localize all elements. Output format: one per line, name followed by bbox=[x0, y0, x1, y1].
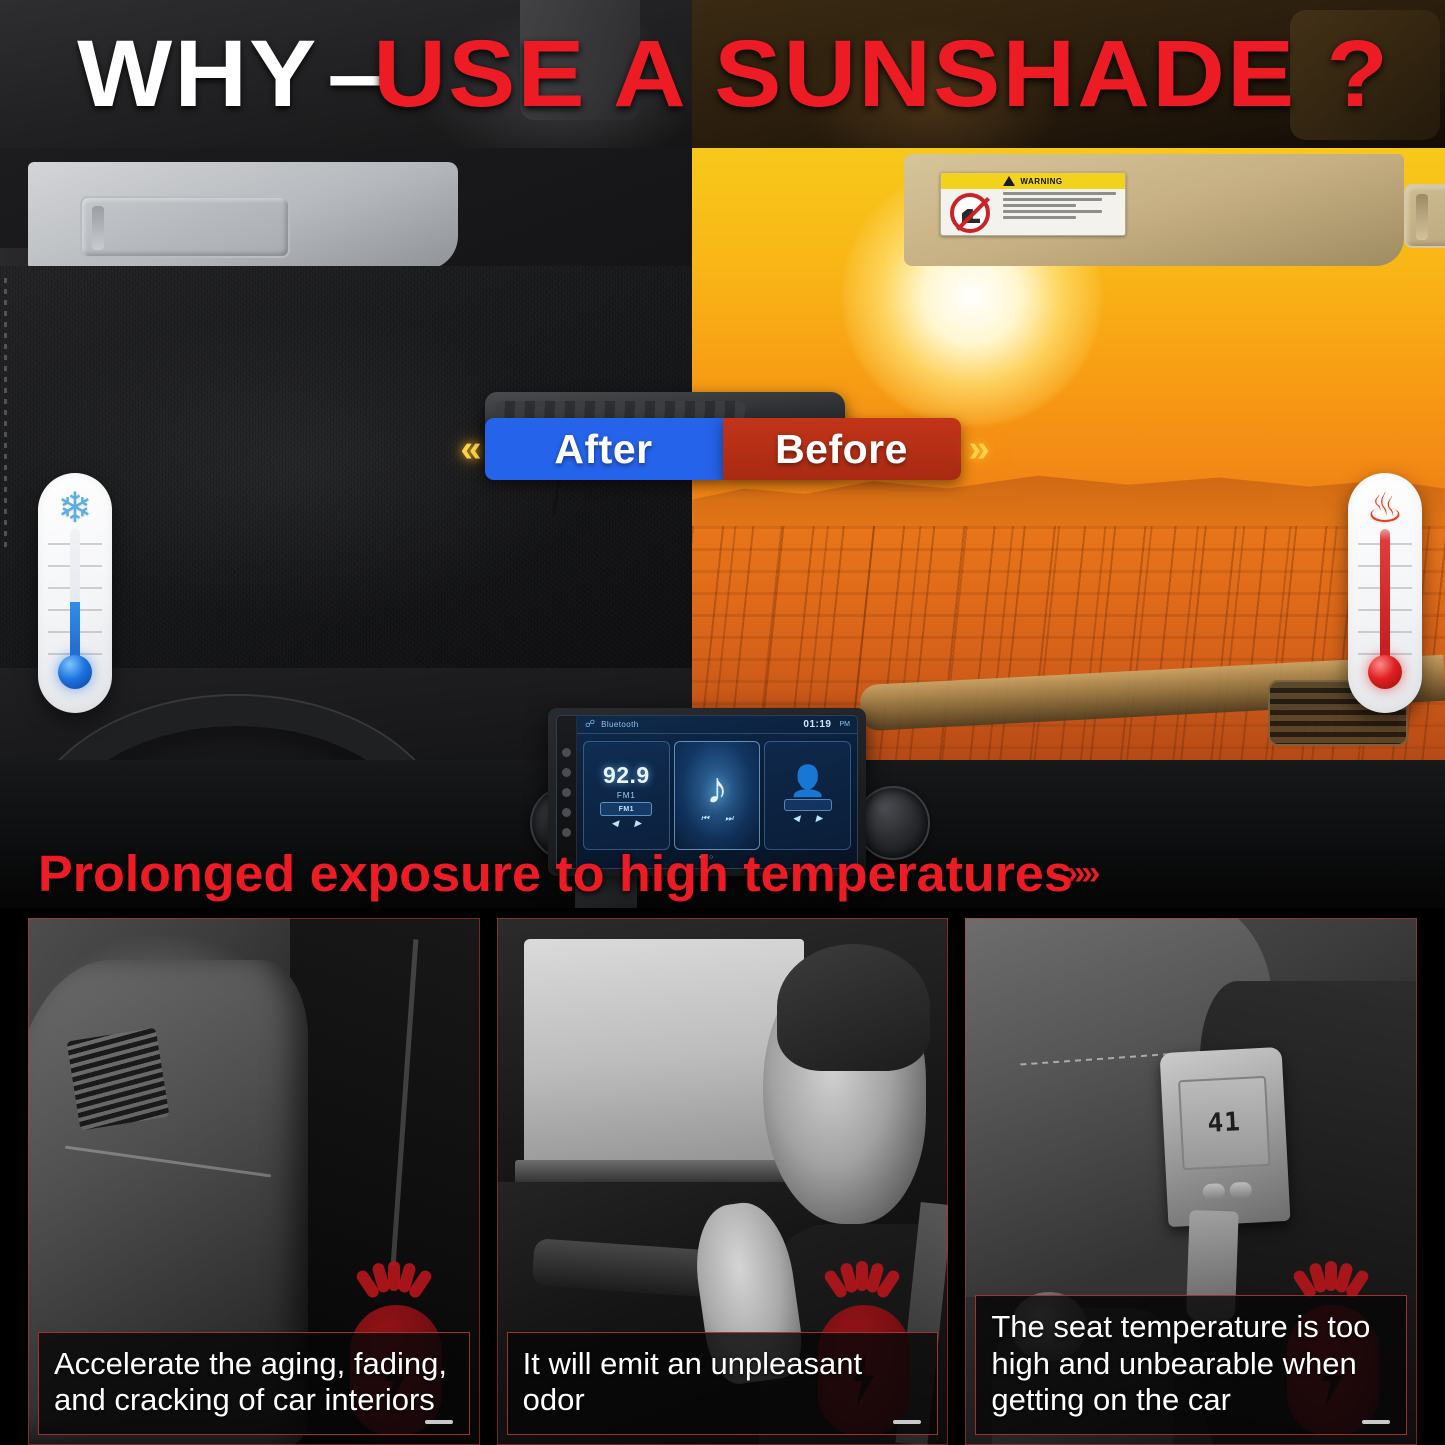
visor-mirror-cover-left bbox=[80, 196, 290, 258]
music-card[interactable]: ♪ ⏮ ⏭ bbox=[674, 741, 761, 850]
page-title: WHY – USE A SUNSHADE ? bbox=[0, 0, 1445, 148]
panel-caption-text: It will emit an unpleasant odor bbox=[523, 1346, 923, 1419]
panel-caption: Accelerate the aging, fading, and cracki… bbox=[38, 1332, 470, 1435]
title-banner: WHY – USE A SUNSHADE ? bbox=[0, 0, 1445, 148]
warning-text-line bbox=[1003, 216, 1076, 219]
dash-vent-shape bbox=[67, 1027, 170, 1130]
head-unit-button[interactable] bbox=[562, 748, 571, 757]
subheading-row: Prolonged exposure to high temperatures … bbox=[0, 836, 1445, 910]
thermometer-lcd-display: 41 bbox=[1178, 1075, 1270, 1170]
head-unit-button[interactable] bbox=[562, 808, 571, 817]
panel-caption-text: Accelerate the aging, fading, and cracki… bbox=[54, 1346, 454, 1419]
caption-underline bbox=[893, 1420, 921, 1424]
warning-text-line bbox=[1003, 210, 1102, 213]
warning-text-line bbox=[1003, 204, 1076, 207]
title-word-why: WHY bbox=[77, 27, 318, 122]
flame-icon: ♨ bbox=[1348, 487, 1422, 529]
warning-label-body bbox=[941, 189, 1125, 236]
thermometer-bulb bbox=[58, 655, 92, 689]
consequence-panels: Accelerate the aging, fading, and cracki… bbox=[0, 918, 1445, 1445]
thermometer-button[interactable] bbox=[1230, 1181, 1253, 1198]
contact-controls[interactable]: ◀ ▶ bbox=[793, 813, 823, 824]
airbag-warning-label: WARNING bbox=[940, 172, 1126, 236]
sun-visor-left bbox=[28, 162, 458, 270]
warning-text-line bbox=[1003, 198, 1102, 201]
carrier-label: Bluetooth bbox=[601, 720, 797, 729]
clock-label: 01:19 bbox=[803, 719, 831, 730]
radio-card[interactable]: 92.9 FM1 FM1 ◀ ▶ bbox=[583, 741, 670, 850]
car-window bbox=[524, 939, 804, 1171]
thermometer-tube bbox=[70, 529, 80, 669]
contact-bar bbox=[784, 799, 832, 811]
phone-card[interactable]: 👤 ◀ ▶ bbox=[764, 741, 851, 850]
warning-triangle-icon bbox=[1003, 176, 1015, 186]
panel-caption: The seat temperature is too high and unb… bbox=[975, 1295, 1407, 1435]
panel-caption: It will emit an unpleasant odor bbox=[507, 1332, 939, 1435]
warning-label-lines bbox=[999, 189, 1125, 236]
after-badge[interactable]: After bbox=[485, 418, 723, 480]
radio-preset-pill[interactable]: FM1 bbox=[600, 802, 652, 816]
head-unit-button[interactable] bbox=[562, 788, 571, 797]
title-word-use-a-sunshade: USE A SUNSHADE ? bbox=[373, 27, 1390, 122]
sunshade-stitching bbox=[4, 278, 7, 548]
panel-interior-aging: Accelerate the aging, fading, and cracki… bbox=[28, 918, 480, 1445]
person-icon: 👤 bbox=[789, 767, 826, 797]
chevron-left-icon: « bbox=[452, 430, 484, 468]
prev-contact-icon[interactable]: ◀ bbox=[793, 813, 800, 824]
visor-mirror-cover-right bbox=[1404, 184, 1445, 248]
child-seat-glyph bbox=[962, 209, 980, 223]
warning-label-text: WARNING bbox=[1020, 177, 1062, 186]
caption-underline bbox=[1362, 1420, 1390, 1424]
radio-frequency: 92.9 bbox=[603, 762, 650, 789]
subheading-text: Prolonged exposure to high temperatures bbox=[38, 844, 1073, 903]
infotainment-status-bar: ☍ Bluetooth 01:19 PM bbox=[557, 716, 857, 734]
temperature-reading: 41 bbox=[1207, 1107, 1242, 1139]
bluetooth-icon: ☍ bbox=[585, 719, 595, 730]
panel-unpleasant-odor: It will emit an unpleasant odor bbox=[497, 918, 949, 1445]
radio-band: FM1 bbox=[617, 791, 636, 800]
infrared-thermometer-device: 41 bbox=[1160, 1047, 1291, 1227]
panel-caption-text: The seat temperature is too high and unb… bbox=[991, 1309, 1391, 1419]
no-child-seat-icon bbox=[941, 189, 999, 236]
next-contact-icon[interactable]: ▶ bbox=[816, 813, 823, 824]
snowflake-icon: ❄ bbox=[38, 487, 112, 529]
warning-label-header: WARNING bbox=[941, 173, 1125, 189]
music-controls[interactable]: ⏮ ⏭ bbox=[701, 813, 733, 824]
panel-hot-seat: 41 The seat temperatur bbox=[965, 918, 1417, 1445]
cold-thermometer-icon: ❄ bbox=[38, 473, 112, 713]
before-after-badges: « After Before » bbox=[0, 416, 1445, 482]
caption-underline bbox=[425, 1420, 453, 1424]
prev-icon[interactable]: ◀ bbox=[611, 818, 618, 829]
sunshade-infographic-poster: WHY – USE A SUNSHADE ? bbox=[0, 0, 1445, 1445]
prohibition-circle-icon bbox=[950, 193, 990, 233]
music-note-icon: ♪ bbox=[706, 767, 728, 811]
thermometer-tube bbox=[1380, 529, 1390, 669]
clock-ampm: PM bbox=[840, 721, 851, 728]
chevron-right-icon: » bbox=[961, 430, 993, 468]
prev-track-icon[interactable]: ⏮ bbox=[701, 813, 709, 824]
next-icon[interactable]: ▶ bbox=[634, 818, 641, 829]
hot-thermometer-icon: ♨ bbox=[1348, 473, 1422, 713]
radio-controls[interactable]: ◀ ▶ bbox=[611, 818, 641, 829]
thermometer-button[interactable] bbox=[1203, 1183, 1226, 1200]
warning-text-line bbox=[1003, 192, 1116, 195]
next-track-icon[interactable]: ⏭ bbox=[725, 813, 733, 824]
person-hair bbox=[777, 944, 931, 1070]
thermometer-bulb bbox=[1368, 655, 1402, 689]
before-badge[interactable]: Before bbox=[723, 418, 961, 480]
head-unit-button[interactable] bbox=[562, 768, 571, 777]
